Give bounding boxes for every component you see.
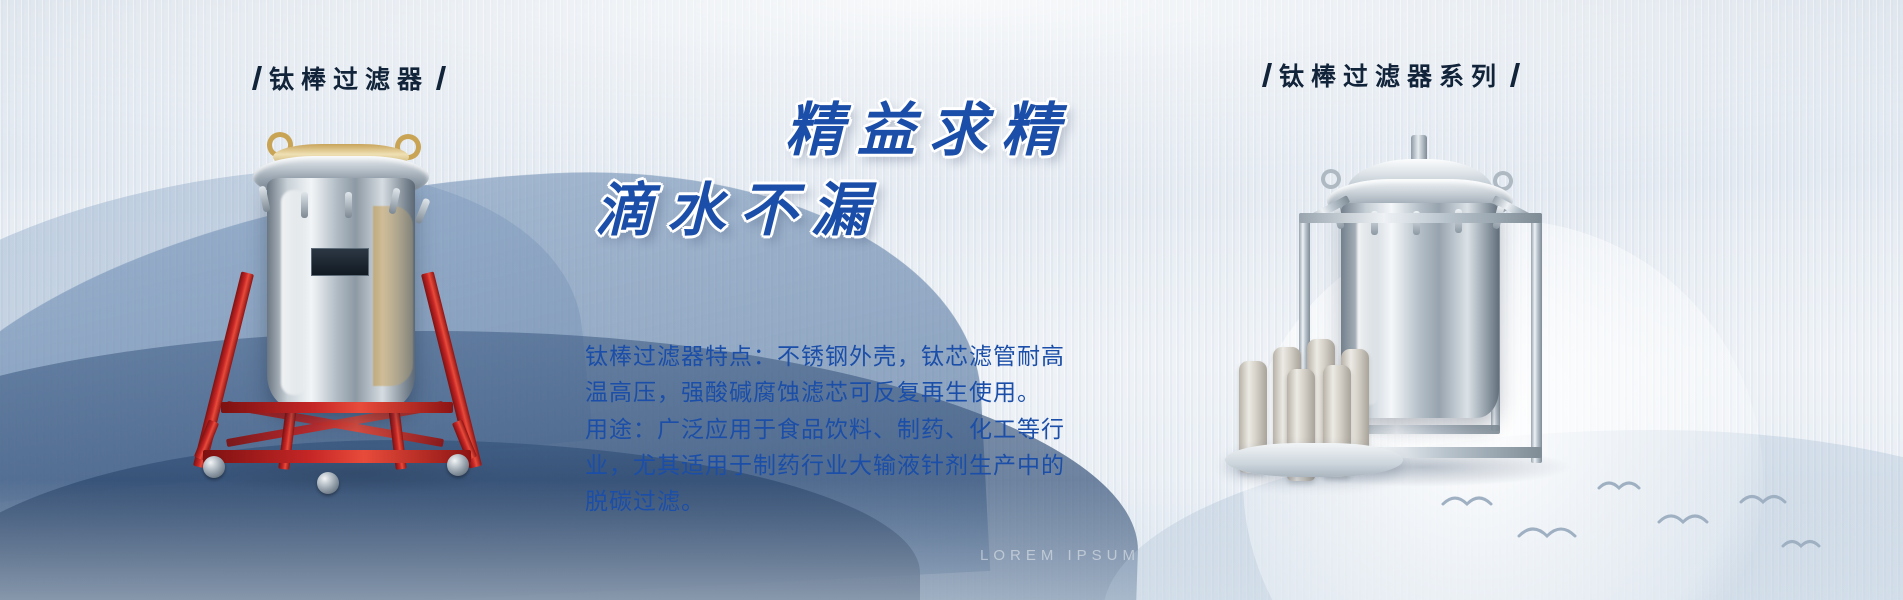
product-banner: 钛棒过滤器 钛棒过滤器系列 精益求精 滴水不漏 钛棒过滤器特点：不锈钢外壳，钛芯… (0, 0, 1903, 600)
frame-post-front-right (1531, 213, 1542, 463)
body-line-3: 用途：广泛应用于食品饮料、制药、化工等行 (585, 411, 1205, 447)
clamp-bolt-5 (414, 198, 430, 225)
body-copy: 钛棒过滤器特点：不锈钢外壳，钛芯滤管耐高 温高压，强酸碱腐蚀滤芯可反复再生使用。… (585, 338, 1205, 520)
trolley-caster-3 (447, 454, 469, 476)
vessel-body-reflection-amber (373, 206, 413, 386)
tag-left: 钛棒过滤器 (255, 60, 443, 96)
headline-line-2: 滴水不漏 (595, 179, 1073, 244)
left-product-image (195, 120, 515, 510)
trolley-base-front (203, 450, 471, 463)
headline: 精益求精 滴水不漏 (585, 100, 1073, 244)
filter-sticks-group (1225, 335, 1405, 485)
body-line-5: 脱碳过滤。 (585, 483, 1205, 519)
vessel-nameplate (311, 248, 369, 276)
clamp-bolt-3 (345, 192, 352, 218)
tag-right-label: 钛棒过滤器系列 (1279, 57, 1503, 93)
tag-right: 钛棒过滤器系列 (1265, 57, 1517, 93)
body-line-4: 业，尤其适用于制药行业大输液针剂生产中的 (585, 447, 1205, 483)
right-product-image (1255, 95, 1595, 495)
filter-sticks-base-plate (1225, 443, 1403, 477)
headline-line-1: 精益求精 (785, 100, 1073, 161)
body-line-2: 温高压，强酸碱腐蚀滤芯可反复再生使用。 (585, 374, 1205, 410)
trolley-caster-1 (203, 456, 225, 478)
vessel-body-highlight (281, 190, 307, 395)
birds-icon (1423, 450, 1843, 570)
trolley-caster-2 (317, 472, 339, 494)
body-line-1: 钛棒过滤器特点：不锈钢外壳，钛芯滤管耐高 (585, 338, 1205, 374)
watermark-text: Lorem Ipsum (980, 547, 1140, 564)
frame-rail-front-top (1299, 213, 1542, 223)
clamp-bolt-2 (301, 192, 308, 218)
tag-left-label: 钛棒过滤器 (269, 60, 429, 96)
trolley-base-rear (221, 402, 453, 413)
